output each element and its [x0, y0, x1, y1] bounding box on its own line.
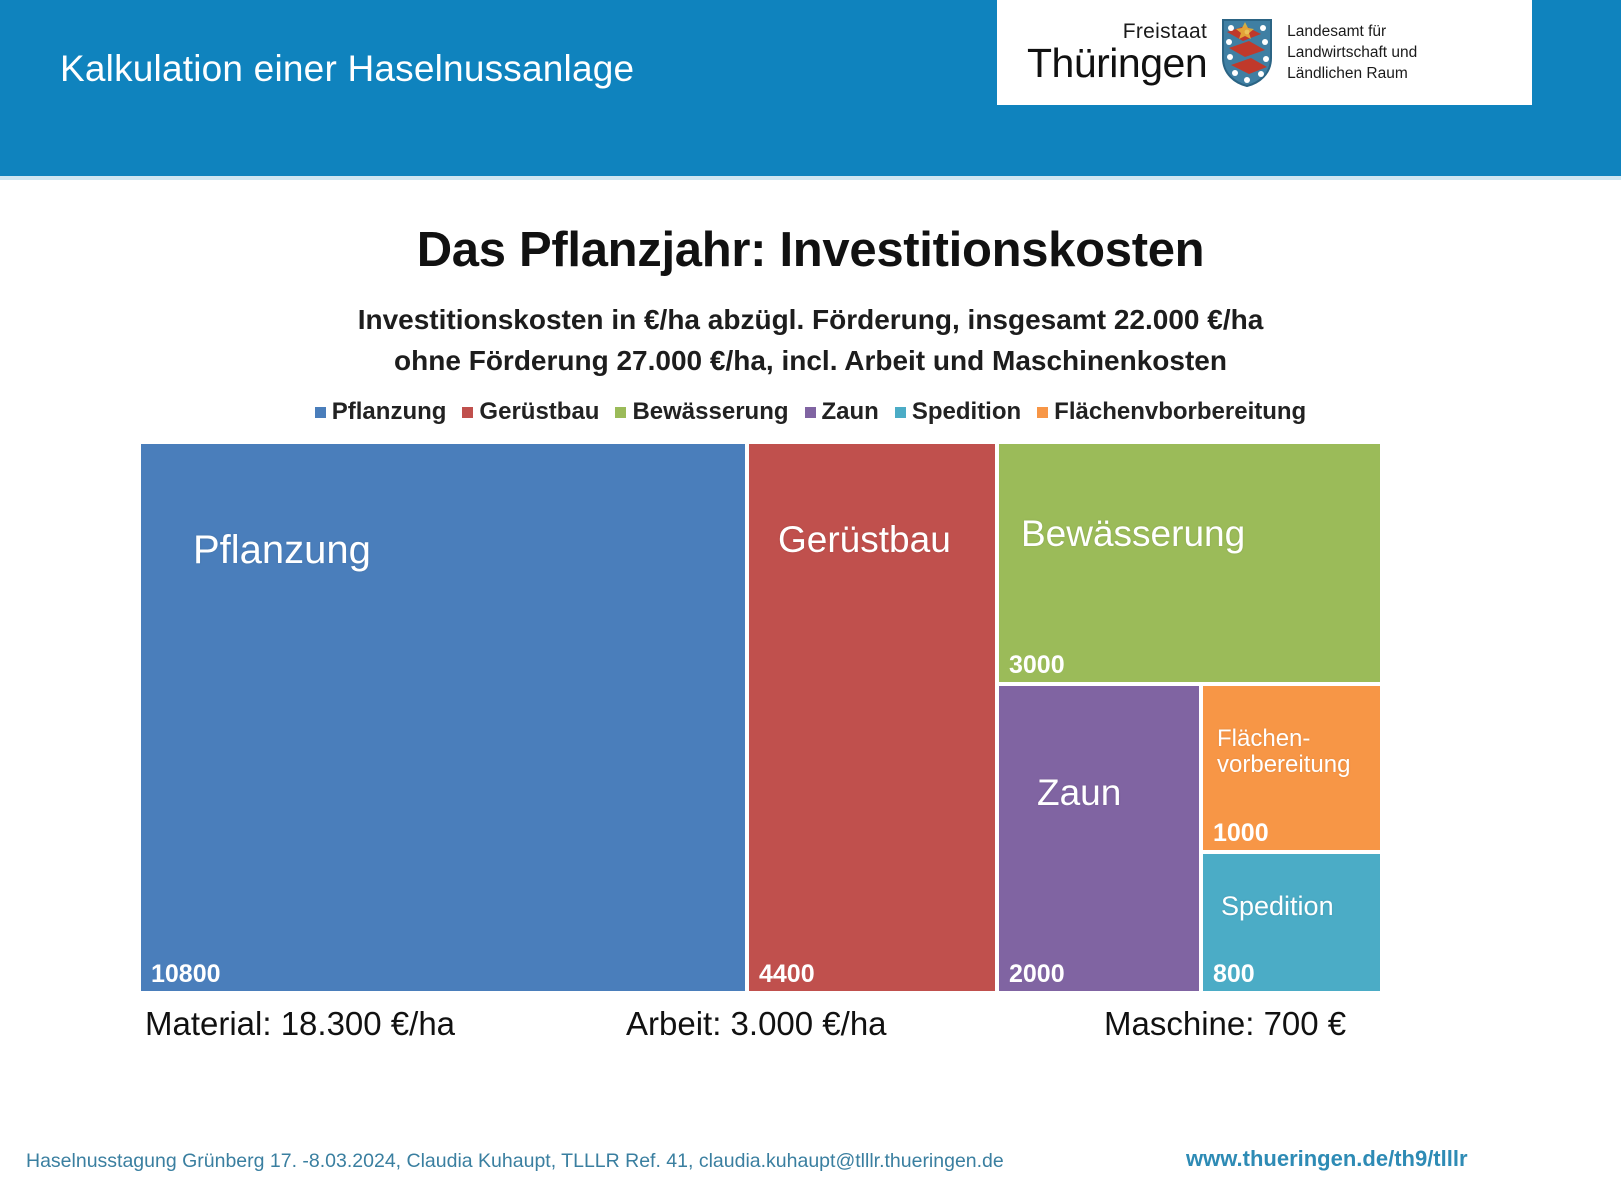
category-captions: Material: 18.300 €/ha Arbeit: 3.000 €/ha… [141, 1005, 1391, 1065]
header-underline [0, 176, 1621, 180]
treemap-chart: Pflanzung 10800 Gerüstbau 4400 Bewässeru… [141, 444, 1380, 991]
slide-title: Das Pflanzjahr: Investitionskosten [0, 222, 1621, 278]
legend-item-flaechenvorbereitung[interactable]: Flächenvborbereitung [1037, 398, 1306, 426]
caption-arbeit: Arbeit: 3.000 €/ha [626, 1005, 887, 1043]
logo-subtitle-text: Landesamt für Landwirtschaft und Ländlic… [1287, 21, 1417, 84]
legend-swatch-icon [895, 407, 906, 418]
slide-subtitle-line-2: ohne Förderung 27.000 €/ha, incl. Arbeit… [0, 341, 1621, 382]
slide-subtitle: Investitionskosten in €/ha abzügl. Förde… [0, 300, 1621, 381]
treemap-tile-value: 10800 [151, 962, 221, 987]
treemap-tile-flaechenvorbereitung[interactable]: Flächen- vorbereitung 1000 [1203, 686, 1380, 850]
treemap-tile-label: Flächen- vorbereitung [1217, 726, 1350, 779]
chart-legend: Pflanzung Gerüstbau Bewässerung Zaun Spe… [0, 398, 1621, 426]
treemap-tile-label: Pflanzung [193, 528, 371, 572]
treemap-tile-bewaesserung[interactable]: Bewässerung 3000 [999, 444, 1380, 682]
treemap-tile-label: Gerüstbau [778, 520, 951, 561]
treemap-tile-geruestbau[interactable]: Gerüstbau 4400 [749, 444, 995, 991]
treemap-tile-value: 800 [1213, 962, 1255, 987]
caption-maschine: Maschine: 700 € [1104, 1005, 1346, 1043]
logo-wordmark: Freistaat Thüringen [1027, 21, 1207, 84]
legend-item-spedition[interactable]: Spedition [895, 398, 1021, 426]
legend-swatch-icon [805, 407, 816, 418]
legend-swatch-icon [1037, 407, 1048, 418]
treemap-tile-zaun[interactable]: Zaun 2000 [999, 686, 1199, 991]
legend-item-pflanzung[interactable]: Pflanzung [315, 398, 447, 426]
treemap-tile-pflanzung[interactable]: Pflanzung 10800 [141, 444, 745, 991]
footer-source-text: Haselnusstagung Grünberg 17. -8.03.2024,… [26, 1150, 1004, 1173]
logo-thueringen-text: Thüringen [1027, 43, 1207, 84]
treemap-tile-value: 3000 [1009, 653, 1065, 678]
legend-label: Spedition [912, 398, 1021, 426]
legend-item-zaun[interactable]: Zaun [805, 398, 879, 426]
legend-label: Flächenvborbereitung [1054, 398, 1306, 426]
legend-label: Pflanzung [332, 398, 447, 426]
thuringia-coat-of-arms-icon [1221, 18, 1273, 88]
logo-freistaat-text: Freistaat [1123, 21, 1207, 42]
legend-swatch-icon [462, 407, 473, 418]
legend-label: Gerüstbau [479, 398, 599, 426]
legend-swatch-icon [615, 407, 626, 418]
legend-label: Zaun [822, 398, 879, 426]
legend-item-bewaesserung[interactable]: Bewässerung [615, 398, 788, 426]
thueringen-logo: Freistaat Thüringen Landesamt für Landwi… [997, 0, 1532, 105]
footer-website-link[interactable]: www.thueringen.de/th9/tlllr [1186, 1146, 1468, 1172]
treemap-tile-value: 1000 [1213, 821, 1269, 846]
treemap-tile-label: Bewässerung [1021, 514, 1245, 555]
header-title: Kalkulation einer Haselnussanlage [60, 48, 634, 90]
legend-swatch-icon [315, 407, 326, 418]
caption-material: Material: 18.300 €/ha [145, 1005, 455, 1043]
treemap-tile-spedition[interactable]: Spedition 800 [1203, 854, 1380, 991]
treemap-tile-label: Spedition [1221, 892, 1334, 922]
treemap-tile-value: 2000 [1009, 962, 1065, 987]
treemap-tile-value: 4400 [759, 962, 815, 987]
treemap-tile-label: Zaun [1037, 773, 1121, 814]
slide-subtitle-line-1: Investitionskosten in €/ha abzügl. Förde… [0, 300, 1621, 341]
legend-item-geruestbau[interactable]: Gerüstbau [462, 398, 599, 426]
legend-label: Bewässerung [632, 398, 788, 426]
